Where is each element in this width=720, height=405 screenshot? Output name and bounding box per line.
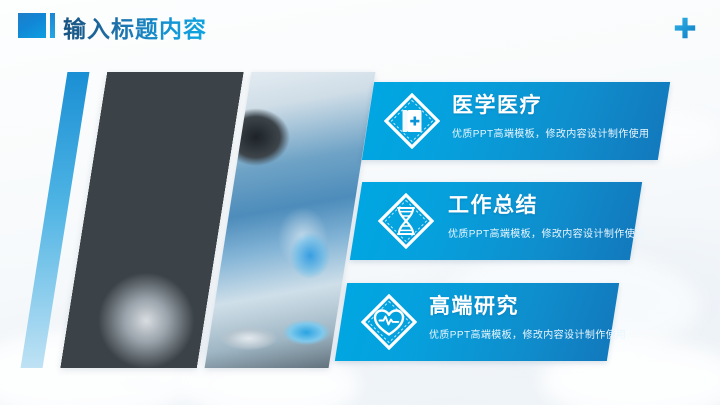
card-subtitle: 优质PPT高端模板，修改内容设计制作使用 — [429, 326, 603, 341]
feature-card-work-summary[interactable]: 工作总结 优质PPT高端模板，修改内容设计制作使用 — [350, 182, 642, 260]
dna-helix-icon — [378, 193, 434, 249]
card-title: 工作总结 — [448, 194, 626, 218]
card-subtitle: 优质PPT高端模板，修改内容设计制作使用 — [448, 225, 626, 240]
card-title: 高端研究 — [429, 295, 603, 319]
card-title: 医学医疗 — [452, 94, 654, 118]
medical-book-icon — [384, 93, 440, 149]
slide-canvas: 输入标题内容 — [0, 0, 720, 405]
feature-card-research[interactable]: 高端研究 优质PPT高端模板，修改内容设计制作使用 — [335, 283, 619, 361]
feature-card-medical[interactable]: 医学医疗 优质PPT高端模板，修改内容设计制作使用 — [362, 82, 670, 160]
heart-pulse-icon — [361, 294, 417, 350]
feature-card-list: 医学医疗 优质PPT高端模板，修改内容设计制作使用 — [0, 0, 720, 405]
card-subtitle: 优质PPT高端模板，修改内容设计制作使用 — [452, 125, 654, 140]
